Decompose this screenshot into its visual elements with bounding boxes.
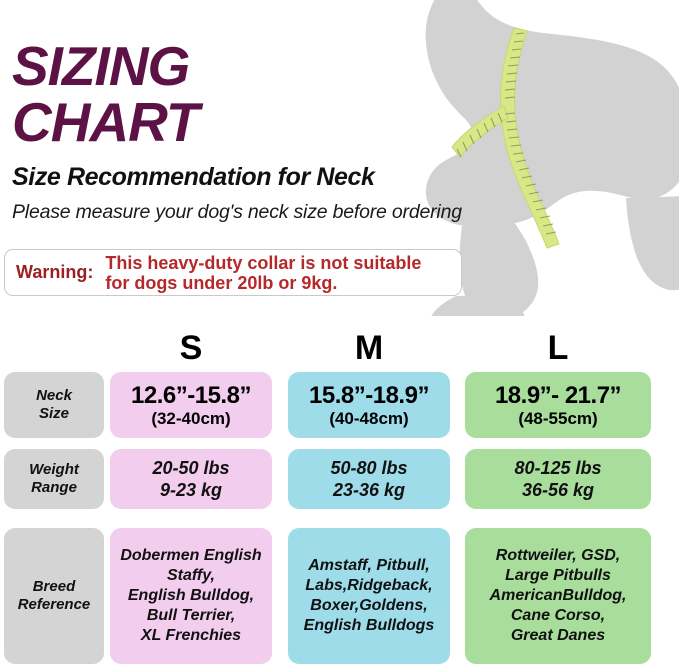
neck-size-small-cm: (32-40cm) xyxy=(151,409,230,428)
measure-instruction: Please measure your dog's neck size befo… xyxy=(0,192,500,224)
breed-reference-large-value: Rottweiler, GSD, Large Pitbulls American… xyxy=(484,546,633,646)
weight-range-small-value: 20-50 lbs 9-23 kg xyxy=(152,457,229,501)
breed-reference-small-value: Dobermen English Staffy, English Bulldog… xyxy=(114,546,267,646)
weight-range-large-cell: 80-125 lbs 36-56 kg xyxy=(465,449,651,509)
size-header-s: S xyxy=(110,329,272,368)
page-title: SIZING CHART xyxy=(0,0,500,150)
neck-size-small-cell: 12.6”-15.8” (32-40cm) xyxy=(110,372,272,438)
breed-reference-small-cell: Dobermen English Staffy, English Bulldog… xyxy=(110,528,272,664)
neck-size-small-inches: 12.6”-15.8” xyxy=(131,383,251,409)
row-label-breed-reference: Breed Reference xyxy=(4,528,104,664)
neck-size-medium-cm: (40-48cm) xyxy=(329,409,408,428)
size-header-l: L xyxy=(465,329,651,368)
warning-label: Warning: xyxy=(5,262,93,283)
neck-size-label: Neck Size xyxy=(36,387,72,423)
breed-reference-medium-cell: Amstaff, Pitbull, Labs,Ridgeback, Boxer,… xyxy=(288,528,450,664)
neck-size-medium-inches: 15.8”-18.9” xyxy=(309,383,429,409)
weight-range-small-cell: 20-50 lbs 9-23 kg xyxy=(110,449,272,509)
weight-range-medium-value: 50-80 lbs 23-36 kg xyxy=(330,457,407,501)
neck-size-large-cm: (48-55cm) xyxy=(518,409,597,428)
warning-text: This heavy-duty collar is not suitable f… xyxy=(93,253,421,293)
neck-size-large-inches: 18.9”- 21.7” xyxy=(495,383,621,409)
warning-box: Warning: This heavy-duty collar is not s… xyxy=(4,249,462,296)
weight-range-medium-cell: 50-80 lbs 23-36 kg xyxy=(288,449,450,509)
header-block: SIZING CHART Size Recommendation for Nec… xyxy=(0,0,500,224)
size-header-m: M xyxy=(288,329,450,368)
neck-size-large-cell: 18.9”- 21.7” (48-55cm) xyxy=(465,372,651,438)
breed-reference-label: Breed Reference xyxy=(18,578,91,614)
row-label-weight-range: Weight Range xyxy=(4,449,104,509)
weight-range-label: Weight Range xyxy=(29,461,79,497)
breed-reference-medium-value: Amstaff, Pitbull, Labs,Ridgeback, Boxer,… xyxy=(298,556,441,636)
weight-range-large-value: 80-125 lbs 36-56 kg xyxy=(514,457,601,501)
breed-reference-large-cell: Rottweiler, GSD, Large Pitbulls American… xyxy=(465,528,651,664)
neck-size-medium-cell: 15.8”-18.9” (40-48cm) xyxy=(288,372,450,438)
sizing-chart-page: SIZING CHART Size Recommendation for Nec… xyxy=(0,0,679,672)
row-label-neck-size: Neck Size xyxy=(4,372,104,438)
page-subtitle: Size Recommendation for Neck xyxy=(0,150,500,192)
